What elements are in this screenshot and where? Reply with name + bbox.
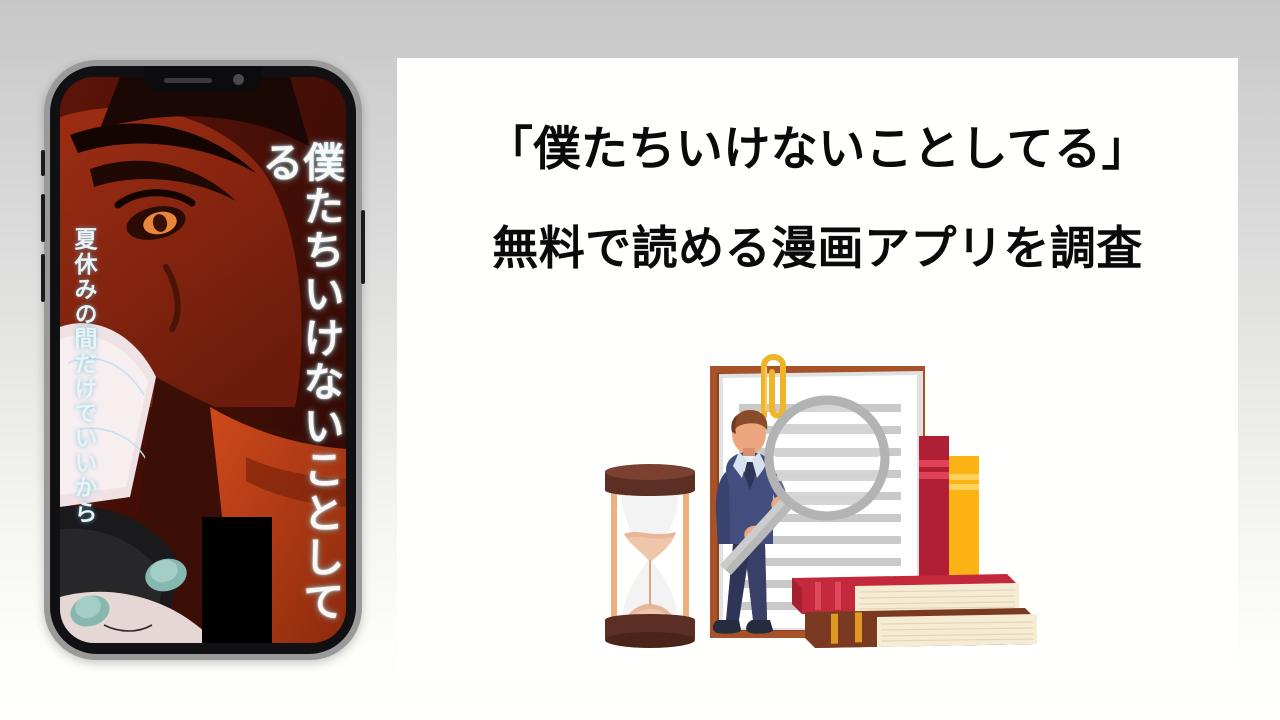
power-button[interactable] (361, 210, 365, 284)
front-camera-icon (233, 74, 244, 85)
silent-switch[interactable] (41, 150, 45, 176)
book-stack-vertical (919, 436, 979, 588)
headline-block: 「僕たちいけないことしてる」 無料で読める漫画アプリを調査 (397, 126, 1238, 271)
illustration-svg (587, 338, 1057, 658)
book-stack-horizontal (792, 574, 1037, 648)
phone-screen[interactable]: 僕たちいけないことしてる 夏休みの間だけでいいから (60, 77, 346, 643)
phone-mockup: 僕たちいけないことしてる 夏休みの間だけでいいから (44, 60, 362, 660)
research-investigation-illustration (587, 338, 1057, 658)
volume-down-button[interactable] (41, 254, 45, 302)
phone-notch (144, 66, 262, 92)
page-subtitle: 無料で読める漫画アプリを調査 (397, 225, 1238, 271)
volume-up-button[interactable] (41, 194, 45, 242)
earpiece-speaker-icon (164, 78, 212, 83)
page-title: 「僕たちいけないことしてる」 (397, 126, 1238, 173)
censor-bar (202, 517, 272, 643)
content-card: 「僕たちいけないことしてる」 無料で読める漫画アプリを調査 (397, 58, 1238, 678)
hourglass-icon (605, 464, 695, 648)
